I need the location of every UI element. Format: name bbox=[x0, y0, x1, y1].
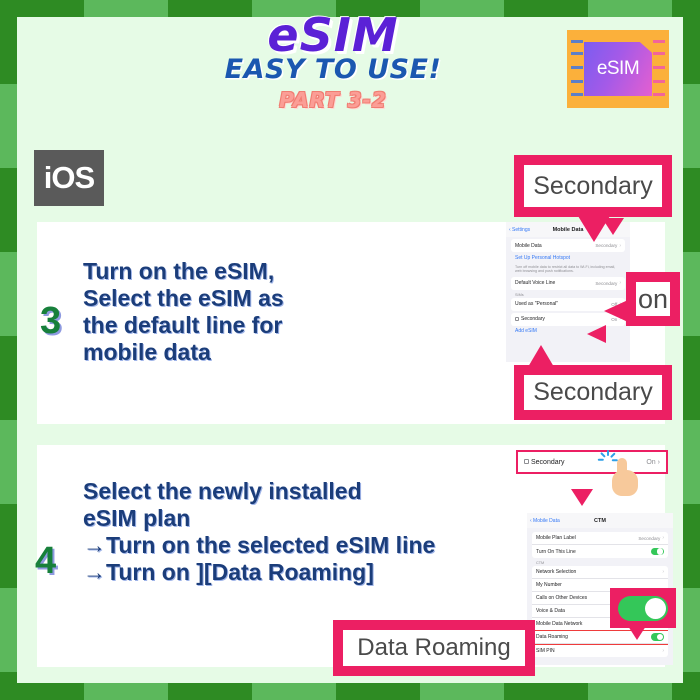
row-value: Secondary bbox=[595, 243, 617, 248]
row-label: Mobile Plan Label bbox=[536, 535, 576, 541]
esim-chip-icon: eSIM bbox=[567, 30, 669, 108]
sims-section-header: SIMs bbox=[506, 290, 630, 298]
chevron-right-icon: › bbox=[658, 459, 660, 466]
secondary-bar-value: On bbox=[646, 459, 655, 466]
callout-secondary-bottom-label: Secondary bbox=[524, 375, 662, 410]
turn-on-this-line-toggle[interactable] bbox=[651, 548, 664, 556]
row-label: Voice & Data bbox=[536, 608, 565, 614]
ios-platform-badge: iOS bbox=[34, 150, 104, 206]
data-roaming-toggle[interactable] bbox=[651, 633, 664, 641]
pointer-arrow-left-on bbox=[587, 325, 606, 343]
row-label: Data Roaming bbox=[536, 634, 568, 640]
default-voice-line-group: Default Voice Line Secondary› bbox=[511, 277, 625, 290]
esim-logo-label: eSIM bbox=[597, 58, 639, 80]
chevron-right-icon: › bbox=[662, 569, 664, 575]
row-data-roaming[interactable]: Data Roaming bbox=[532, 631, 668, 644]
step-4-text: Select the newly installed eSIM plan →Tu… bbox=[83, 478, 435, 587]
row-value: Secondary bbox=[595, 281, 617, 286]
plan-group: Mobile Plan Label Secondary› Turn On Thi… bbox=[532, 532, 668, 558]
callout-toggle-zoom bbox=[610, 588, 676, 628]
tapping-hand-icon bbox=[608, 456, 642, 498]
step-3-text: Turn on the eSIM, Select the eSIM as the… bbox=[83, 258, 284, 367]
chevron-right-icon: › bbox=[662, 535, 664, 541]
chevron-right-icon: › bbox=[619, 243, 621, 249]
row-label: Network Selection bbox=[536, 569, 576, 575]
row-mobile-plan-label[interactable]: Mobile Plan Label Secondary› bbox=[532, 532, 668, 545]
callout-toggle-zoom-tail bbox=[628, 626, 646, 640]
back-button[interactable]: ‹ Settings bbox=[509, 227, 530, 233]
zoomed-toggle-icon bbox=[618, 596, 668, 621]
row-label: Used as "Personal" bbox=[515, 301, 558, 307]
row-label: My Number bbox=[536, 582, 562, 588]
callout-on: on bbox=[626, 272, 680, 326]
row-label: Mobile Data bbox=[515, 243, 542, 249]
row-label: Turn On This Line bbox=[536, 549, 576, 555]
callout-secondary-top-label: Secondary bbox=[524, 165, 662, 207]
secondary-line-row-highlight[interactable]: Secondary On › bbox=[516, 450, 668, 474]
callout-secondary-top: Secondary bbox=[514, 155, 672, 217]
callout-on-tail bbox=[604, 300, 628, 322]
callout-secondary-top-tail bbox=[578, 216, 610, 242]
ctm-section-header: CTM bbox=[527, 558, 673, 566]
chevron-right-icon: › bbox=[619, 280, 621, 286]
sim-card-icon bbox=[515, 317, 519, 321]
sim-card-icon bbox=[524, 459, 529, 464]
callout-secondary-bottom: Secondary bbox=[514, 365, 672, 420]
row-value: Secondary bbox=[638, 536, 660, 541]
row-label: Calls on Other Devices bbox=[536, 595, 587, 601]
row-sim-pin[interactable]: SIM PIN › bbox=[532, 644, 668, 657]
link-set-up-personal-hotspot[interactable]: Set Up Personal Hotspot bbox=[506, 252, 630, 264]
chevron-right-icon: › bbox=[662, 648, 664, 654]
row-label: Mobile Data Network bbox=[536, 621, 582, 627]
row-label: Secondary bbox=[521, 316, 545, 322]
step-3-number: 3 bbox=[40, 300, 61, 343]
screenshot-mobile-data: ‹ Settings Mobile Data Mobile Data Secon… bbox=[506, 222, 630, 362]
callout-data-roaming-label: Data Roaming bbox=[343, 630, 525, 666]
row-network-selection[interactable]: Network Selection › bbox=[532, 566, 668, 579]
callout-data-roaming: Data Roaming bbox=[333, 620, 535, 676]
link-add-esim[interactable]: Add eSIM bbox=[506, 326, 630, 337]
callout-on-label: on bbox=[636, 282, 670, 316]
ios-nav-bar: ‹ Mobile Data CTM bbox=[527, 513, 673, 528]
callout-secondary-bottom-tail bbox=[528, 345, 554, 367]
row-label: Default Voice Line bbox=[515, 280, 555, 286]
pointer-arrow-down-line-detail bbox=[571, 489, 593, 506]
mobile-data-note: Turn off mobile data to restrict all dat… bbox=[506, 264, 630, 277]
row-turn-on-this-line[interactable]: Turn On This Line bbox=[532, 545, 668, 558]
secondary-bar-label: Secondary bbox=[531, 459, 564, 466]
row-default-voice-line[interactable]: Default Voice Line Secondary› bbox=[511, 277, 625, 290]
back-button[interactable]: ‹ Mobile Data bbox=[530, 518, 560, 524]
row-label: SIM PIN bbox=[536, 648, 555, 654]
step-4-number: 4 bbox=[35, 540, 56, 583]
